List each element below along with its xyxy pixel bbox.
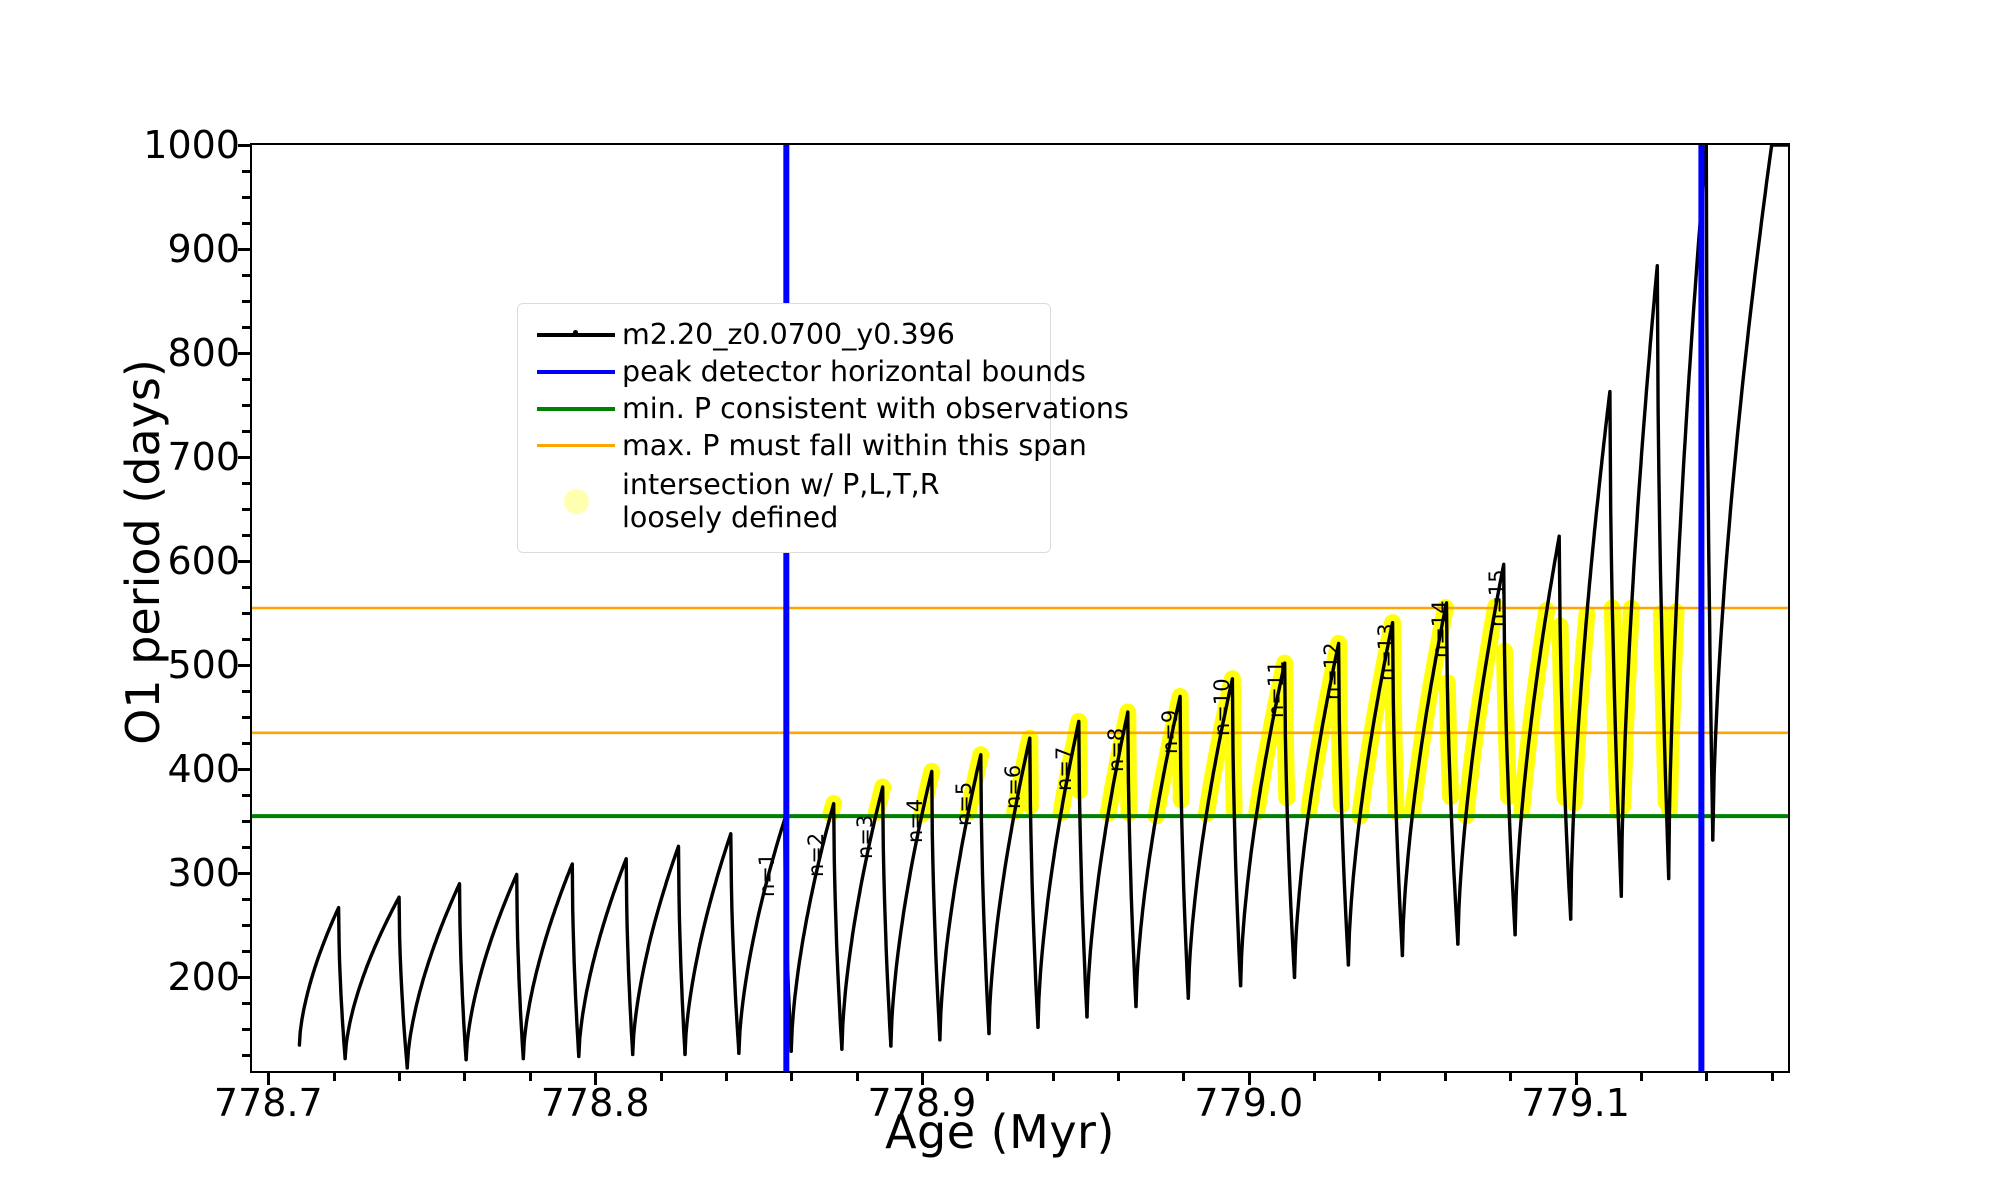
y-tick-mark — [238, 768, 250, 771]
y-minor-tick-mark — [242, 716, 250, 719]
model-track-cycle — [579, 859, 633, 1057]
y-tick-mark — [238, 664, 250, 667]
x-minor-tick-mark — [398, 1073, 401, 1081]
x-tick-mark — [1248, 1073, 1251, 1085]
y-minor-tick-mark — [242, 482, 250, 485]
y-minor-tick-mark — [242, 924, 250, 927]
cycle-index-label: n=14 — [1428, 600, 1452, 658]
cycle-index-label: n=5 — [952, 781, 976, 825]
y-minor-tick-mark — [242, 1002, 250, 1005]
y-tick-mark — [238, 976, 250, 979]
x-tick-mark — [594, 1073, 597, 1085]
cycle-index-label: n=3 — [853, 815, 877, 859]
model-track-cycle — [633, 846, 685, 1054]
cycle-index-label: n=15 — [1485, 569, 1509, 627]
legend-item-model[interactable]: m2.20_z0.0700_y0.396 — [530, 316, 1040, 353]
legend-item-intersection[interactable]: intersection w/ P,L,T,R loosely defined — [530, 464, 1040, 538]
cycle-index-label: n=12 — [1320, 642, 1344, 700]
y-minor-tick-mark — [242, 378, 250, 381]
x-tick-label: 779.0 — [1119, 1081, 1379, 1125]
yellow-dot-swatch-icon — [530, 489, 622, 514]
model-track-cycle — [345, 897, 407, 1068]
legend-label-model: m2.20_z0.0700_y0.396 — [622, 318, 955, 351]
y-minor-tick-mark — [242, 1054, 250, 1057]
x-minor-tick-mark — [463, 1073, 466, 1081]
x-minor-tick-mark — [333, 1073, 336, 1081]
y-tick-label: 200 — [40, 955, 240, 999]
y-tick-mark — [238, 560, 250, 563]
y-tick-label: 800 — [40, 331, 240, 375]
legend-label-max-period: max. P must fall within this span — [622, 429, 1087, 462]
x-minor-tick-mark — [1117, 1073, 1120, 1081]
y-tick-mark — [238, 144, 250, 147]
y-tick-label: 1000 — [40, 123, 240, 167]
x-minor-tick-mark — [790, 1073, 793, 1081]
legend-item-max-period[interactable]: max. P must fall within this span — [530, 427, 1040, 464]
y-minor-tick-mark — [242, 508, 250, 511]
x-minor-tick-mark — [725, 1073, 728, 1081]
model-track-cycle — [1713, 145, 1788, 840]
x-minor-tick-mark — [1640, 1073, 1643, 1081]
data-plot-svg — [252, 145, 1788, 1071]
y-minor-tick-mark — [242, 846, 250, 849]
x-tick-label: 778.8 — [465, 1081, 725, 1125]
y-minor-tick-mark — [242, 196, 250, 199]
y-minor-tick-mark — [242, 742, 250, 745]
cycle-index-label: n=2 — [804, 832, 828, 876]
x-tick-mark — [1575, 1073, 1578, 1085]
y-tick-label: 400 — [40, 747, 240, 791]
y-tick-mark — [238, 872, 250, 875]
legend-item-min-period[interactable]: min. P consistent with observations — [530, 390, 1040, 427]
model-track-cycle — [407, 884, 466, 1068]
y-minor-tick-mark — [242, 612, 250, 615]
y-minor-tick-mark — [242, 638, 250, 641]
y-tick-label: 700 — [40, 435, 240, 479]
x-tick-mark — [267, 1073, 270, 1085]
cycle-index-label: n=6 — [1001, 765, 1025, 809]
x-minor-tick-mark — [1705, 1073, 1708, 1081]
y-tick-mark — [238, 248, 250, 251]
y-minor-tick-mark — [242, 404, 250, 407]
x-minor-tick-mark — [856, 1073, 859, 1081]
model-track-cycle — [466, 874, 523, 1059]
legend-label-intersection-line1: intersection w/ P,L,T,R — [622, 468, 940, 501]
cycle-index-label: n=13 — [1374, 623, 1398, 681]
plot-area: n=1n=2n=3n=4n=5n=6n=7n=8n=9n=10n=11n=12n… — [250, 143, 1790, 1073]
model-track-group — [299, 145, 1788, 1068]
x-minor-tick-mark — [1509, 1073, 1512, 1081]
y-tick-mark — [238, 456, 250, 459]
y-minor-tick-mark — [242, 534, 250, 537]
x-minor-tick-mark — [986, 1073, 989, 1081]
cycle-index-label: n=4 — [903, 799, 927, 843]
y-minor-tick-mark — [242, 950, 250, 953]
y-minor-tick-mark — [242, 820, 250, 823]
legend-label-intersection-wrap: intersection w/ P,L,T,R loosely defined — [622, 468, 940, 534]
y-minor-tick-mark — [242, 794, 250, 797]
x-minor-tick-mark — [1313, 1073, 1316, 1081]
y-minor-tick-mark — [242, 326, 250, 329]
y-minor-tick-mark — [242, 170, 250, 173]
cycle-index-label: n=10 — [1210, 678, 1234, 736]
y-minor-tick-mark — [242, 898, 250, 901]
y-tick-label: 300 — [40, 851, 240, 895]
y-minor-tick-mark — [242, 430, 250, 433]
y-minor-tick-mark — [242, 274, 250, 277]
y-minor-tick-mark — [242, 586, 250, 589]
y-tick-label: 500 — [40, 643, 240, 687]
x-minor-tick-mark — [660, 1073, 663, 1081]
x-minor-tick-mark — [1182, 1073, 1185, 1081]
x-minor-tick-mark — [529, 1073, 532, 1081]
legend-item-peak-bounds[interactable]: peak detector horizontal bounds — [530, 353, 1040, 390]
cycle-index-label: n=7 — [1052, 747, 1076, 791]
legend-box[interactable]: m2.20_z0.0700_y0.396 peak detector horiz… — [517, 303, 1051, 553]
legend-label-intersection-line2: loosely defined — [622, 501, 940, 534]
cycle-index-label: n=1 — [755, 853, 779, 897]
legend-label-min-period: min. P consistent with observations — [622, 392, 1129, 425]
blue-line-swatch-icon — [530, 370, 622, 374]
figure-canvas: O1 period (days) Age (Myr) 2003004005006… — [0, 0, 2000, 1200]
model-track-cycle — [299, 908, 345, 1059]
x-minor-tick-mark — [1771, 1073, 1774, 1081]
legend-label-peak-bounds: peak detector horizontal bounds — [622, 355, 1086, 388]
x-minor-tick-mark — [1378, 1073, 1381, 1081]
model-track-cycle — [523, 864, 579, 1059]
x-minor-tick-mark — [1444, 1073, 1447, 1081]
x-tick-mark — [921, 1073, 924, 1085]
y-minor-tick-mark — [242, 300, 250, 303]
x-tick-label: 778.9 — [792, 1081, 1052, 1125]
x-tick-label: 778.7 — [138, 1081, 398, 1125]
cycle-index-label: n=11 — [1264, 661, 1288, 719]
y-minor-tick-mark — [242, 1028, 250, 1031]
cycle-index-label: n=9 — [1158, 709, 1182, 753]
x-tick-label: 779.1 — [1446, 1081, 1706, 1125]
y-minor-tick-mark — [242, 690, 250, 693]
cycle-index-label: n=8 — [1104, 728, 1128, 772]
y-tick-label: 600 — [40, 539, 240, 583]
green-line-swatch-icon — [530, 407, 622, 411]
orange-line-swatch-icon — [530, 444, 622, 447]
model-track-cycle — [685, 834, 739, 1055]
y-tick-label: 900 — [40, 227, 240, 271]
y-tick-mark — [238, 352, 250, 355]
y-minor-tick-mark — [242, 222, 250, 225]
line-marker-swatch-icon — [530, 333, 622, 337]
x-minor-tick-mark — [1052, 1073, 1055, 1081]
